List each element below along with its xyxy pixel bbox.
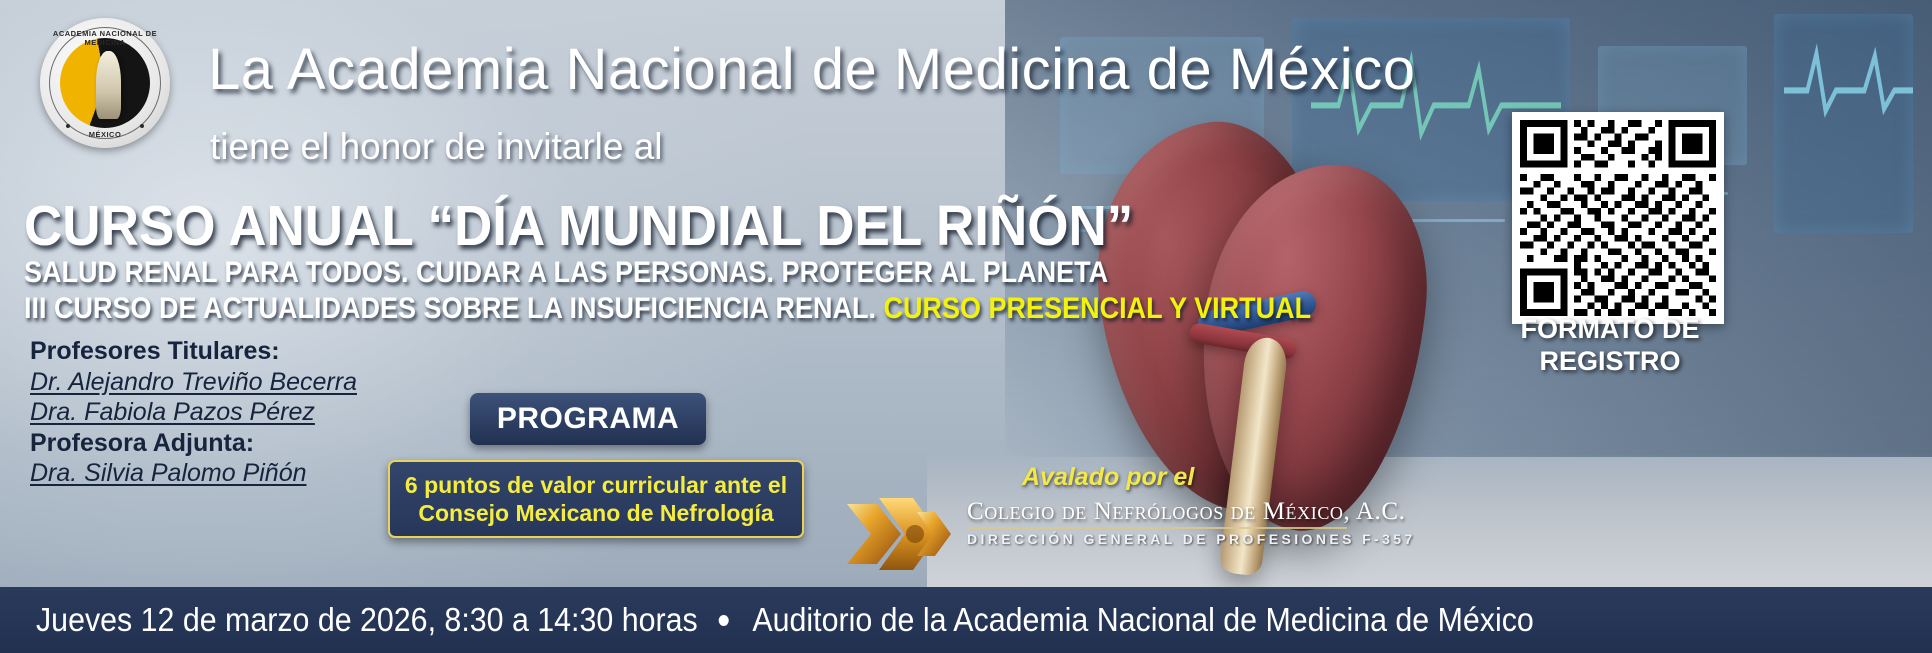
- faculty-adjunct-1: Dra. Silvia Palomo Piñón: [30, 458, 430, 489]
- registration-line-2: REGISTRO: [1512, 346, 1708, 378]
- course-edition-line: III CURSO DE ACTUALIDADES SOBRE LA INSUF…: [24, 292, 1311, 326]
- course-slogan: SALUD RENAL PARA TODOS. CUIDAR A LAS PER…: [24, 256, 1108, 290]
- event-venue: Auditorio de la Academia Nacional de Med…: [752, 601, 1533, 638]
- footer-bar: Jueves 12 de marzo de 2026, 8:30 a 14:30…: [0, 587, 1932, 653]
- seal-dot: [140, 124, 144, 128]
- points-line-2: Consejo Mexicano de Nefrología: [418, 499, 773, 527]
- institution-title: La Academia Nacional de Medicina de Méxi…: [208, 36, 1415, 103]
- colegio-registry: DIRECCIÓN GENERAL DE PROFESIONES F-357: [967, 531, 1416, 547]
- seal-statue-figure: [96, 51, 121, 119]
- course-title: CURSO ANUAL “DÍA MUNDIAL DEL RIÑÓN”: [24, 193, 1133, 259]
- faculty-titular-1: Dr. Alejandro Treviño Becerra: [30, 367, 430, 398]
- registration-line-1: FORMATO DE: [1512, 314, 1708, 346]
- faculty-titular-2: Dra. Fabiola Pazos Pérez: [30, 397, 430, 428]
- registration-label: FORMATO DE REGISTRO: [1512, 314, 1708, 378]
- event-banner: ACADEMIA NACIONAL DE MEDICINA MÉXICO La …: [0, 0, 1932, 653]
- invitation-line: tiene el honor de invitarle al: [210, 126, 663, 168]
- academy-seal-logo: ACADEMIA NACIONAL DE MEDICINA MÉXICO: [40, 18, 170, 148]
- faculty-block: Profesores Titulares: Dr. Alejandro Trev…: [30, 336, 430, 489]
- faculty-adjunct-label: Profesora Adjunta:: [30, 428, 430, 459]
- colegio-divider: [967, 527, 1347, 529]
- course-edition: III CURSO DE ACTUALIDADES SOBRE LA INSUF…: [24, 292, 876, 325]
- programa-button[interactable]: PROGRAMA: [470, 393, 706, 445]
- ecg-waveform-icon: [1784, 37, 1914, 119]
- endorsement-prefix: Avalado por el: [1022, 463, 1194, 492]
- seal-bottom-text: MÉXICO: [40, 130, 170, 139]
- curricular-points-box: 6 puntos de valor curricular ante el Con…: [388, 460, 804, 538]
- event-datetime: Jueves 12 de marzo de 2026, 8:30 a 14:30…: [36, 601, 698, 638]
- qr-code-icon: [1520, 120, 1716, 316]
- colegio-nefrologos-logo-icon: [843, 492, 979, 576]
- colegio-name: Colegio de Nefrólogos de México, A.C.: [967, 498, 1405, 526]
- bullet-separator-icon: [719, 615, 729, 626]
- registration-qr-code[interactable]: [1512, 112, 1724, 324]
- points-line-1: 6 puntos de valor curricular ante el: [405, 471, 787, 499]
- seal-top-text: ACADEMIA NACIONAL DE MEDICINA: [40, 29, 170, 47]
- footer-text: Jueves 12 de marzo de 2026, 8:30 a 14:30…: [36, 601, 1534, 639]
- seal-core: [60, 38, 150, 128]
- faculty-titular-label: Profesores Titulares:: [30, 336, 430, 367]
- seal-dot: [66, 124, 70, 128]
- course-modality: CURSO PRESENCIAL Y VIRTUAL: [884, 292, 1312, 325]
